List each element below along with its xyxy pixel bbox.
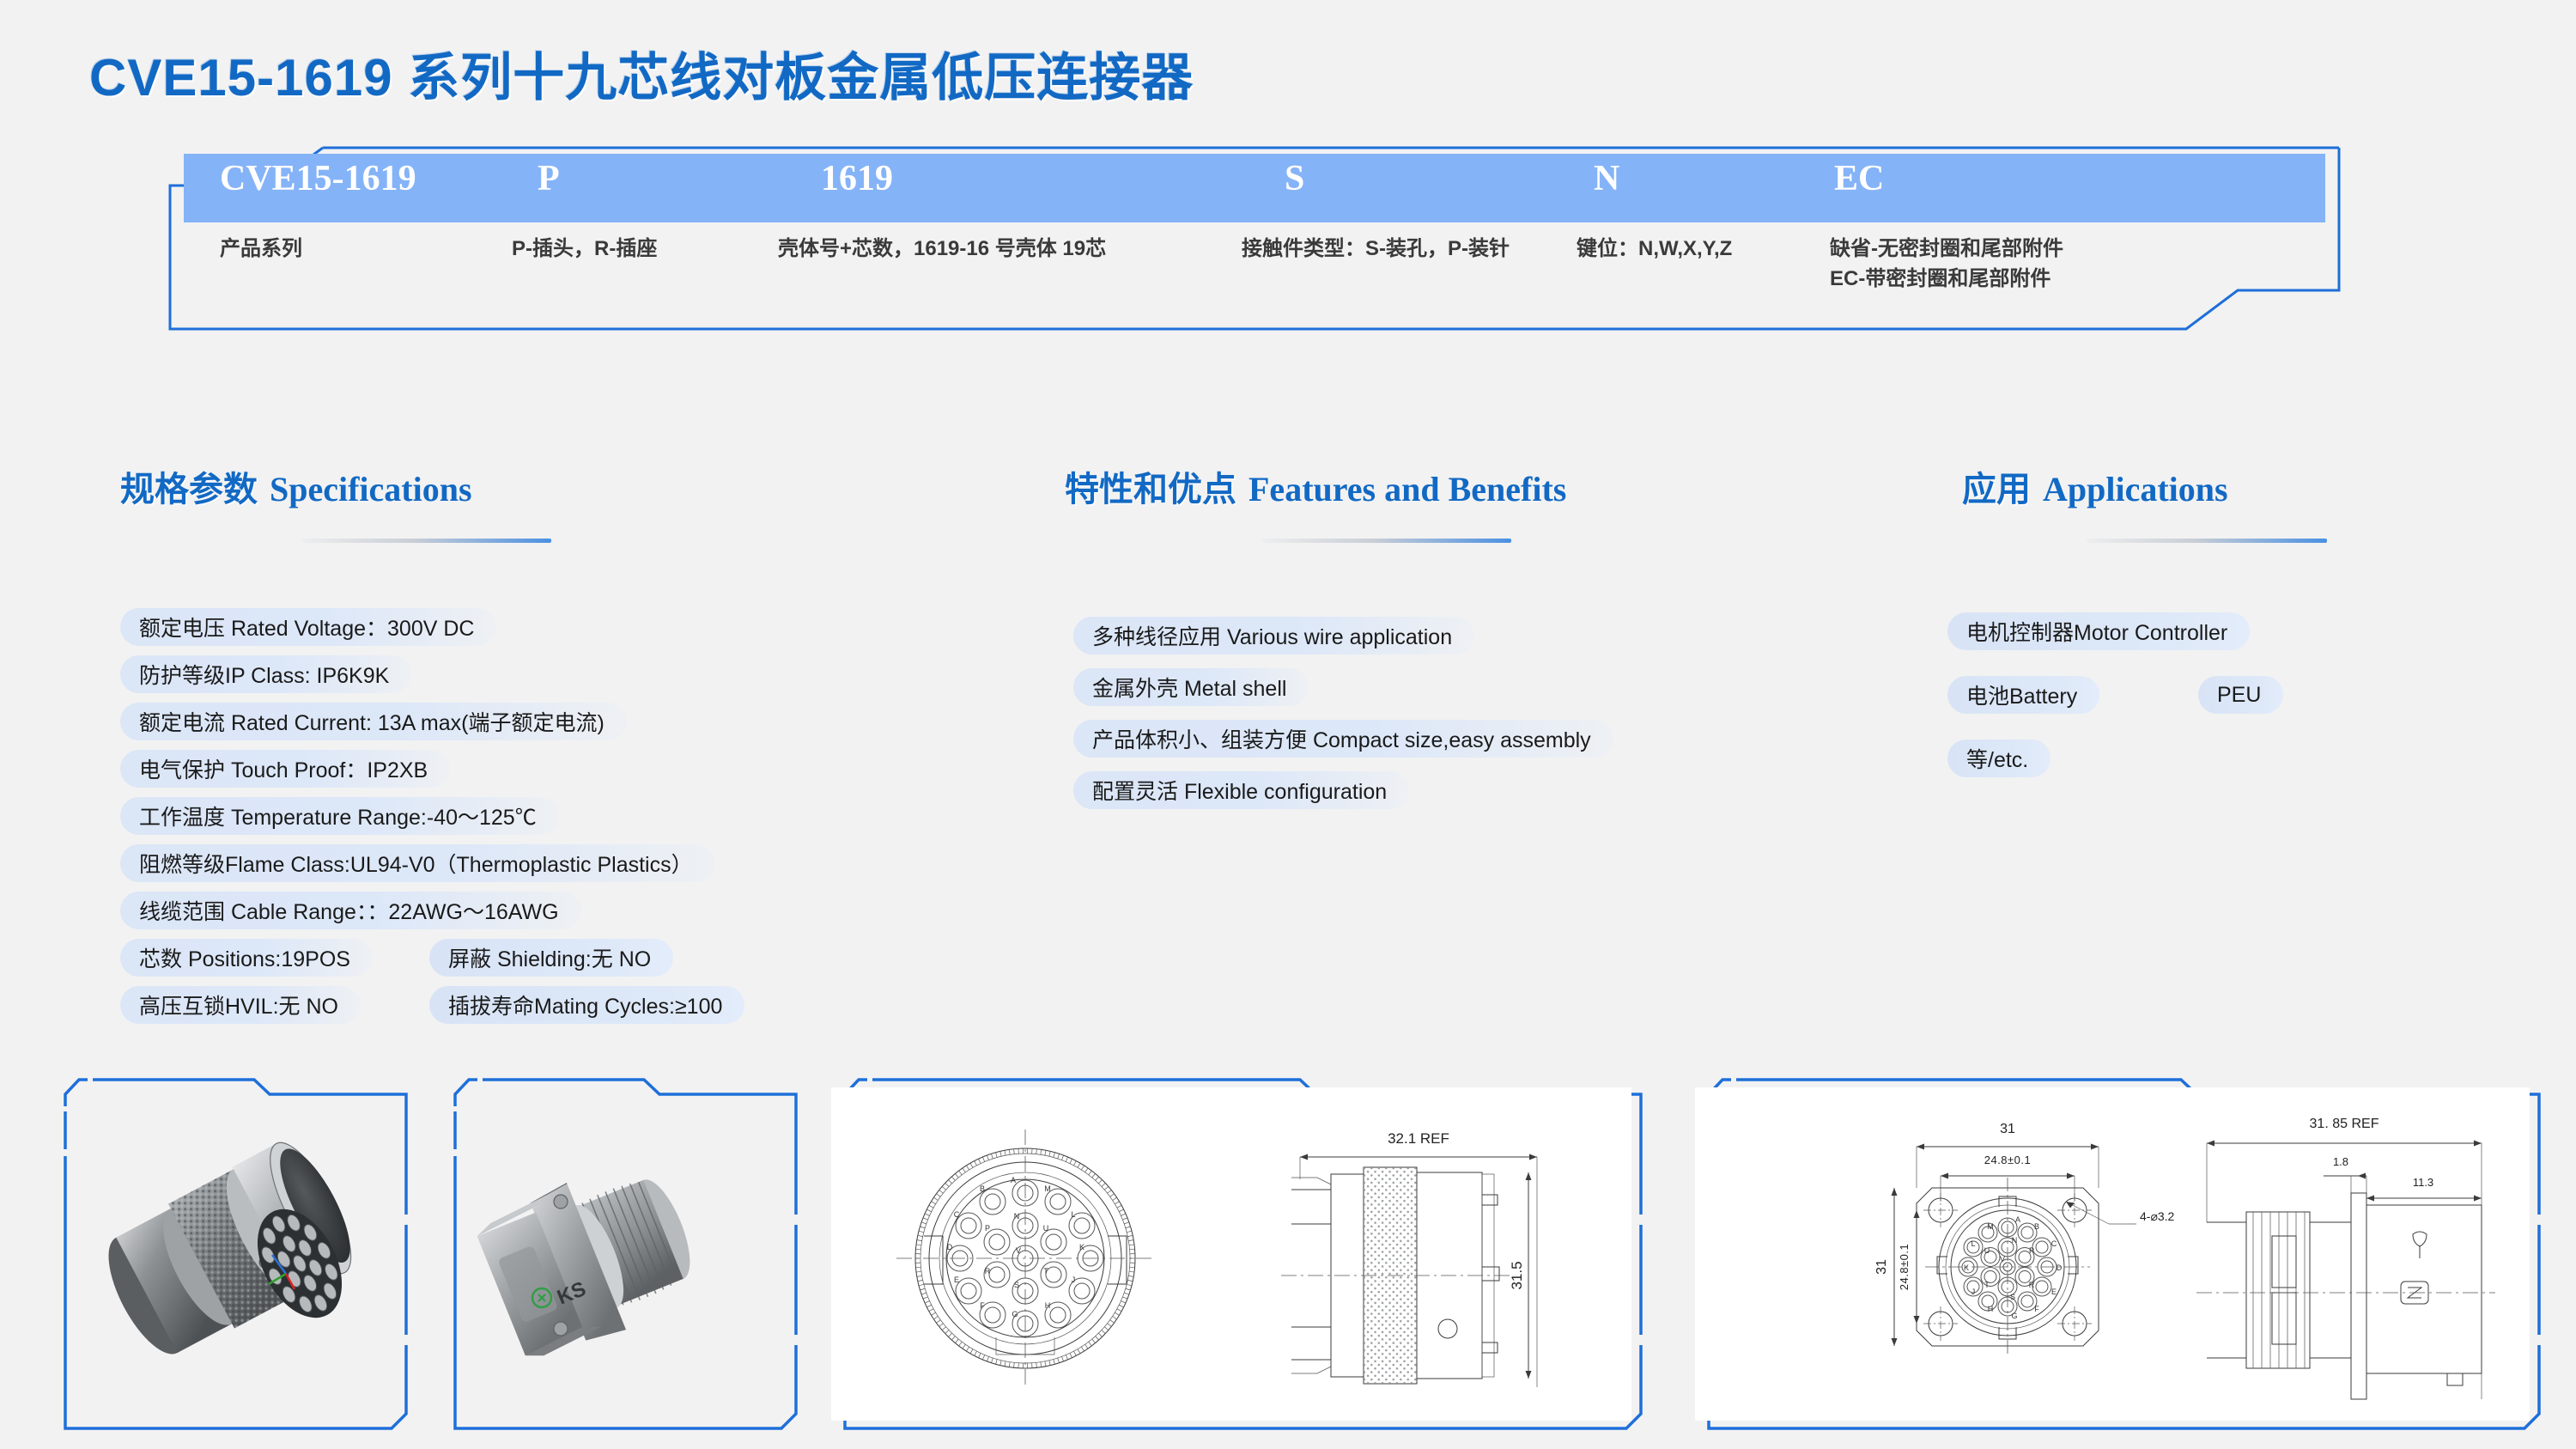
- application-item-0: 电机控制器Motor Controller: [1947, 612, 2250, 650]
- svg-text:P: P: [2029, 1246, 2034, 1255]
- applications-heading-cn: 应用: [1962, 471, 2031, 508]
- decoder-code-1: P: [538, 158, 560, 199]
- decoder-code-2: 1619: [821, 158, 893, 199]
- spec-item-8: 屏蔽 Shielding:无 NO: [429, 939, 673, 977]
- receptacle-render-area: KS: [441, 1087, 787, 1421]
- svg-text:A: A: [2015, 1215, 2020, 1224]
- svg-text:E: E: [954, 1275, 959, 1284]
- svg-text:E: E: [2051, 1288, 2057, 1296]
- svg-text:V: V: [1016, 1246, 1021, 1255]
- specifications-heading-en: Specifications: [270, 470, 472, 508]
- svg-text:K: K: [1964, 1263, 1969, 1272]
- application-item-3: 等/etc.: [1947, 740, 2050, 777]
- spec-item-4: 工作温度 Temperature Range:-40～125℃: [120, 797, 559, 835]
- svg-text:D: D: [947, 1243, 953, 1251]
- decoder-desc-0: 产品系列: [220, 234, 302, 265]
- features-heading-cn: 特性和优点: [1065, 471, 1236, 508]
- decoder-desc-2: 壳体号+芯数，1619-16 号壳体 19芯: [778, 234, 1106, 265]
- svg-text:S: S: [2010, 1293, 2015, 1301]
- svg-text:G: G: [2011, 1312, 2017, 1320]
- specifications-underline: [302, 539, 551, 543]
- dim-recept-pitch-v: 24.8±0.1: [1898, 1244, 1911, 1291]
- spec-item-2: 额定电流 Rated Current: 13A max(端子额定电流): [120, 703, 627, 740]
- decoder-code-4: N: [1594, 158, 1619, 199]
- dim-recept-pitch-h: 24.8±0.1: [1984, 1154, 2032, 1166]
- svg-text:R: R: [2029, 1281, 2035, 1289]
- svg-text:U: U: [1043, 1224, 1049, 1233]
- spec-item-10: 插拔寿命Mating Cycles:≥100: [429, 986, 744, 1024]
- plug-3d-render: [70, 1112, 379, 1396]
- svg-text:L: L: [1971, 1239, 1975, 1248]
- drawing-panel-receptacle: 31 24.8±0.1: [1683, 1077, 2542, 1431]
- drawing-panel-plug: AB CD EF GH JK LM NP RS TU V: [819, 1077, 1643, 1431]
- svg-text:H: H: [1045, 1301, 1051, 1310]
- spec-item-1: 防护等级IP Class: IP6K9K: [120, 655, 411, 693]
- receptacle-drawing-area: 31 24.8±0.1: [1695, 1087, 2530, 1421]
- decoder-desc-5: 缺省-无密封圈和尾部附件 EC-带密封圈和尾部附件: [1830, 234, 2063, 295]
- dim-recept-hole-spec: 4-⌀3.2: [2140, 1209, 2175, 1223]
- features-underline: [1262, 539, 1511, 543]
- svg-text:N: N: [1014, 1212, 1020, 1221]
- dim-recept-width: 31: [2000, 1122, 2015, 1136]
- feature-item-3: 配置灵活 Flexible configuration: [1073, 771, 1409, 809]
- svg-text:F: F: [2034, 1305, 2039, 1313]
- svg-text:D: D: [2057, 1263, 2063, 1272]
- receptacle-technical-drawing: 31 24.8±0.1: [1709, 1095, 2516, 1413]
- decoder-code-0: CVE15-1619: [220, 158, 416, 199]
- spec-item-9: 高压互锁HVIL:无 NO: [120, 986, 361, 1024]
- svg-text:T: T: [1043, 1267, 1048, 1275]
- specifications-heading-cn: 规格参数: [120, 471, 258, 508]
- decoder-header-row: [184, 154, 2325, 222]
- svg-text:J: J: [1072, 1275, 1076, 1284]
- svg-text:N: N: [2012, 1236, 2018, 1245]
- dim-recept-height: 31: [1874, 1259, 1889, 1275]
- feature-item-1: 金属外壳 Metal shell: [1073, 668, 1309, 706]
- svg-text:C: C: [2051, 1239, 2057, 1248]
- application-item-1: 电池Battery: [1947, 676, 2099, 714]
- svg-text:B: B: [2034, 1222, 2039, 1231]
- spec-item-5: 阻燃等级Flame Class:UL94-V0（Thermoplastic Pl…: [120, 844, 715, 882]
- svg-text:B: B: [980, 1184, 985, 1193]
- dim-plug-diameter: 31.5: [1509, 1261, 1525, 1289]
- section-heading-specifications: 规格参数Specifications: [120, 461, 472, 511]
- plug-technical-drawing: AB CD EF GH JK LM NP RS TU V: [845, 1095, 1618, 1413]
- decoder-code-3: S: [1285, 158, 1304, 199]
- product-photo-panel-receptacle: KS: [429, 1077, 799, 1431]
- decoder-desc-1: P-插头，R-插座: [512, 234, 657, 265]
- dim-plug-length: 32.1 REF: [1388, 1130, 1449, 1147]
- plug-drawing-area: AB CD EF GH JK LM NP RS TU V: [831, 1087, 1631, 1421]
- receptacle-3d-render: KS: [459, 1112, 769, 1396]
- svg-text:G: G: [1012, 1310, 1018, 1318]
- svg-text:H: H: [1988, 1305, 1994, 1313]
- features-heading-en: Features and Benefits: [1249, 470, 1566, 508]
- spec-item-3: 电气保护 Touch Proof：IP2XB: [120, 750, 450, 788]
- page-title: CVE15-1619 系列十九芯线对板金属低压连接器: [89, 36, 1194, 111]
- svg-text:V: V: [2000, 1255, 2005, 1263]
- applications-heading-en: Applications: [2043, 470, 2228, 508]
- svg-text:C: C: [954, 1210, 960, 1219]
- svg-text:M: M: [1987, 1222, 1994, 1231]
- product-photo-panel-plug: [39, 1077, 409, 1431]
- decoder-desc-3: 接触件类型：S-装孔，P-装针: [1242, 234, 1510, 265]
- feature-item-0: 多种线径应用 Various wire application: [1073, 617, 1474, 654]
- svg-text:J: J: [1971, 1288, 1976, 1296]
- spec-item-7: 芯数 Positions:19POS: [120, 939, 373, 977]
- svg-text:P: P: [985, 1224, 990, 1233]
- svg-text:T: T: [1984, 1281, 1990, 1289]
- feature-item-2: 产品体积小、组装方便 Compact size,easy assembly: [1073, 720, 1613, 758]
- spec-item-6: 线缆范围 Cable Range：：22AWG～16AWG: [120, 892, 581, 929]
- application-item-2: PEU: [2198, 676, 2283, 714]
- svg-text:R: R: [985, 1267, 991, 1275]
- svg-text:K: K: [1079, 1243, 1084, 1251]
- dim-flange-thickness: 1.8: [2333, 1155, 2348, 1168]
- svg-text:A: A: [1011, 1176, 1016, 1184]
- dim-body-length: 11.3: [2413, 1176, 2433, 1189]
- datasheet-page: CVE15-1619 系列十九芯线对板金属低压连接器 CVE15-1619 P …: [0, 0, 2576, 1449]
- section-heading-features: 特性和优点Features and Benefits: [1065, 461, 1566, 511]
- svg-text:U: U: [1984, 1246, 1990, 1255]
- decoder-code-5: EC: [1834, 158, 1884, 199]
- section-heading-applications: 应用Applications: [1962, 461, 2228, 511]
- svg-text:L: L: [1071, 1210, 1075, 1219]
- spec-item-0: 额定电压 Rated Voltage：300V DC: [120, 608, 496, 646]
- decoder-desc-4: 键位：N,W,X,Y,Z: [1577, 234, 1732, 265]
- applications-underline: [2087, 539, 2327, 543]
- dim-recept-length: 31. 85 REF: [2310, 1117, 2379, 1131]
- part-number-decoder: CVE15-1619 P 1619 S N EC 产品系列 P-插头，R-插座 …: [168, 146, 2341, 331]
- svg-text:S: S: [1014, 1281, 1019, 1289]
- svg-text:M: M: [1044, 1184, 1051, 1193]
- svg-text:F: F: [980, 1301, 985, 1310]
- plug-render-area: [52, 1087, 397, 1421]
